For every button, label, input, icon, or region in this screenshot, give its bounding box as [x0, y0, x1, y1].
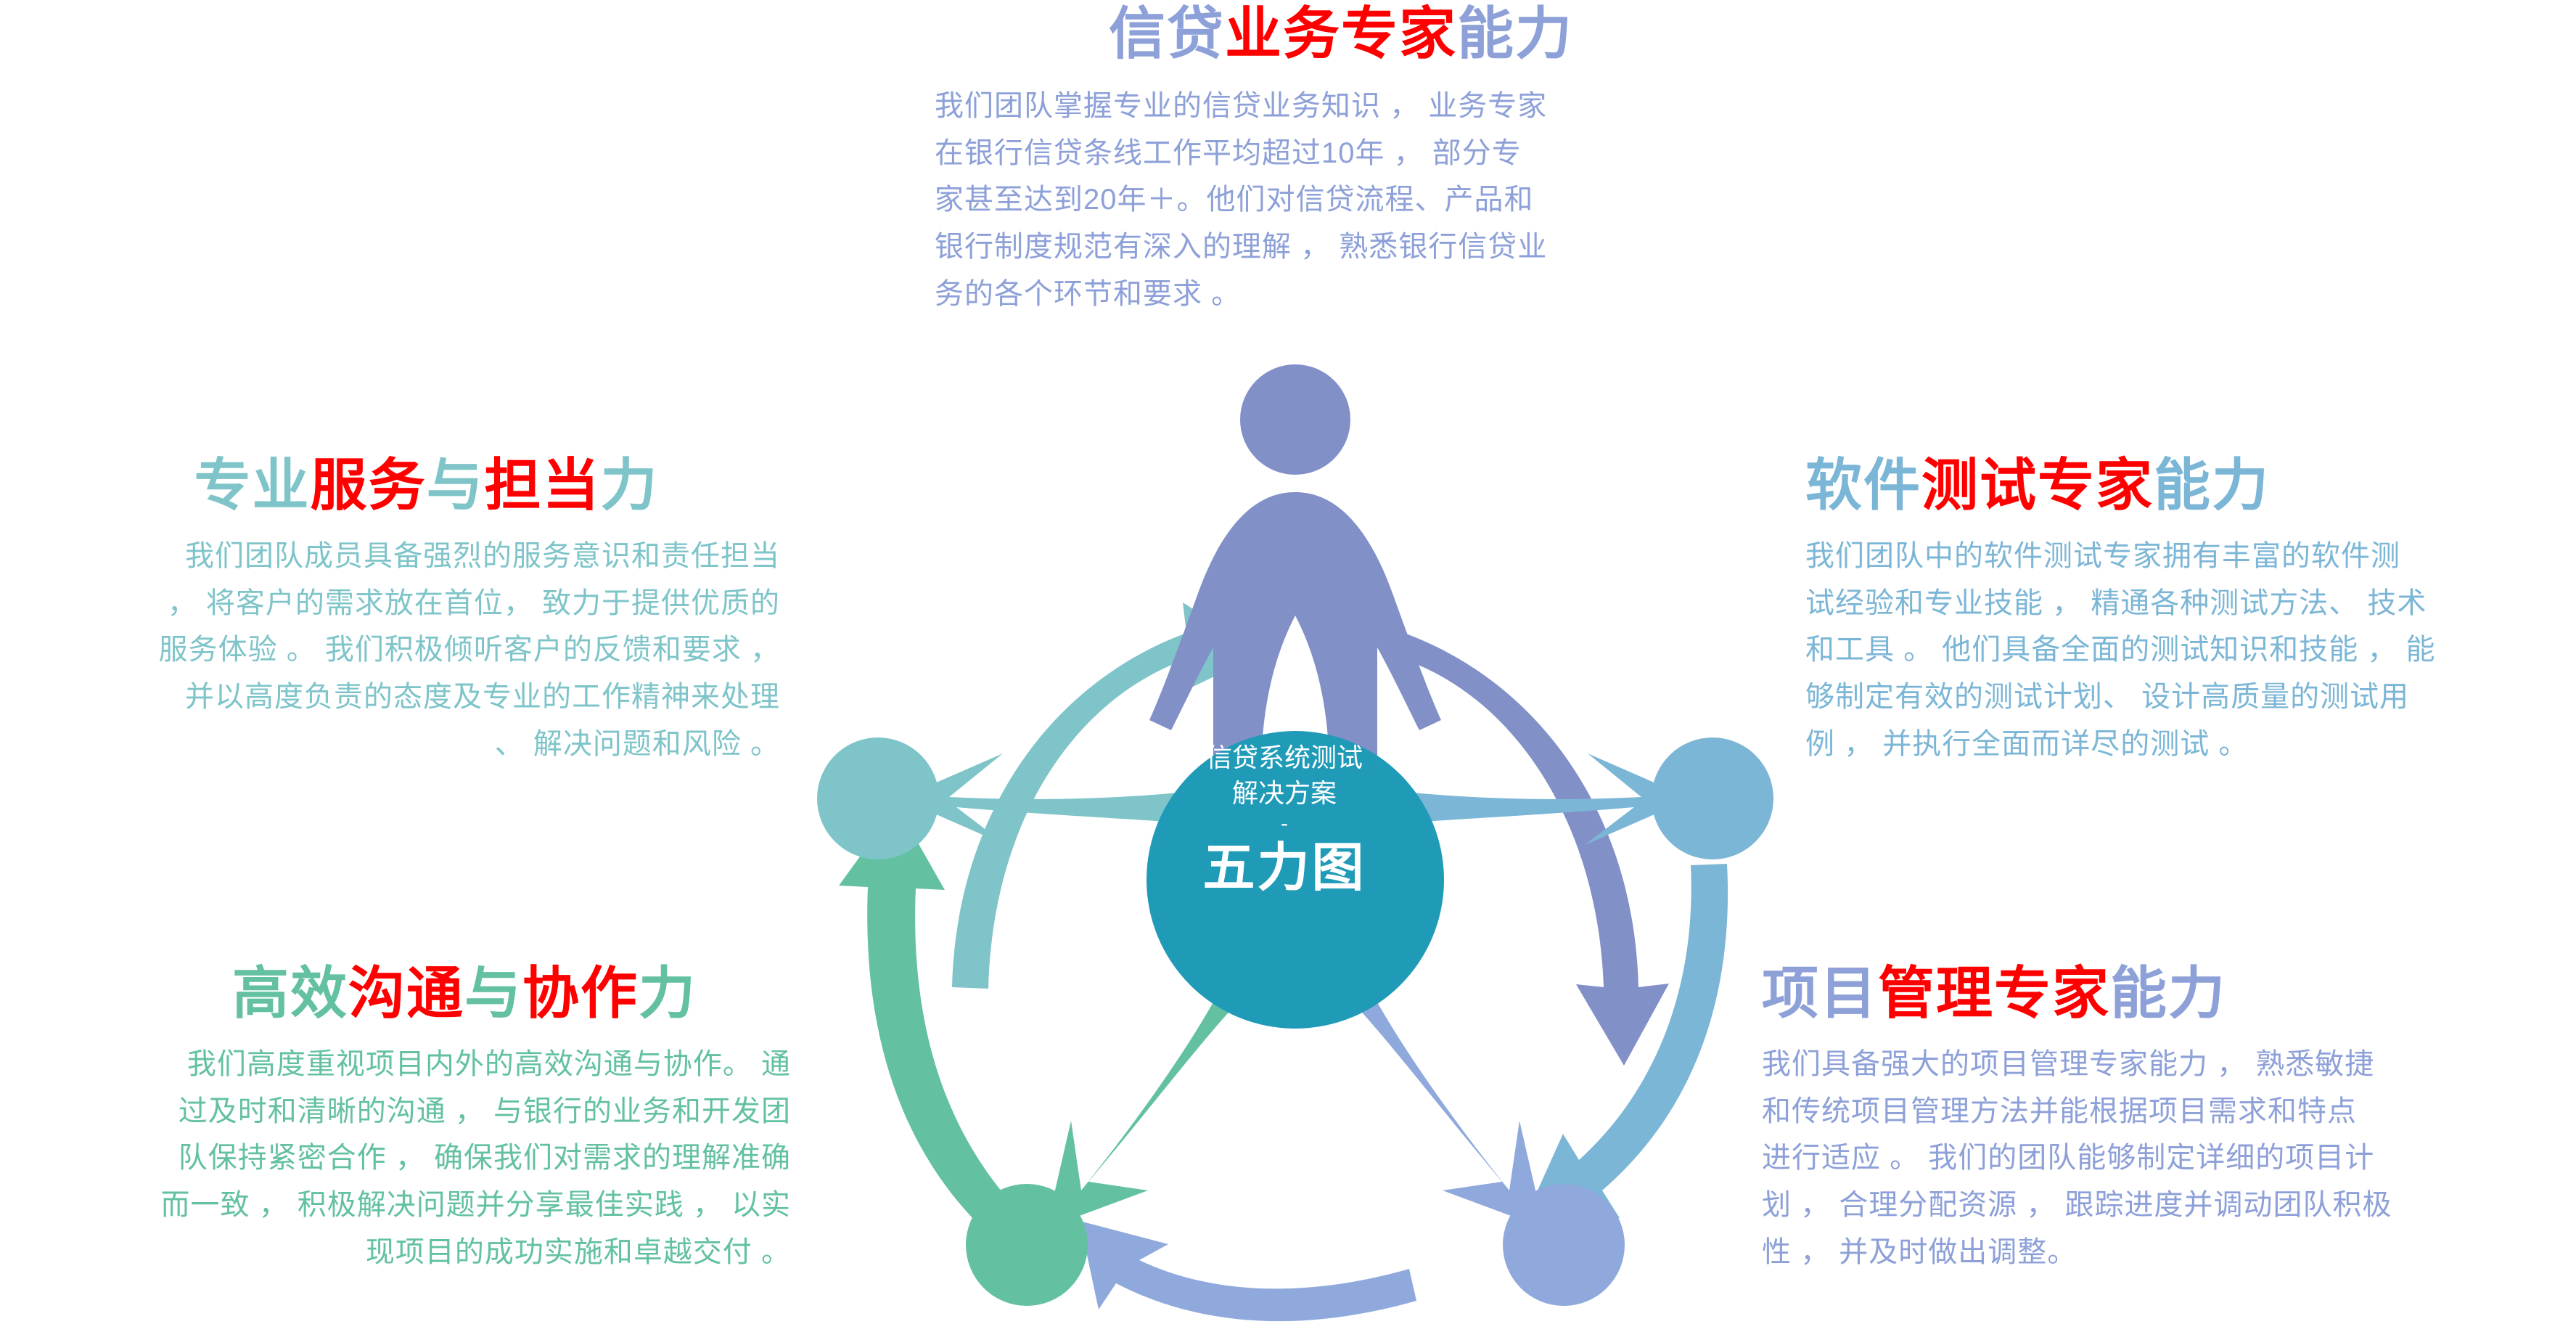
professional-service-body: 我们团队成员具备强烈的服务意识和责任担当 ， 将客户的需求放在首位， 致力于提供…	[0, 533, 787, 768]
body-line: 我们具备强大的项目管理专家能力 ， 熟悉敏捷	[1762, 1041, 2576, 1088]
body-line: 我们团队成员具备强烈的服务意识和责任担当	[0, 533, 780, 580]
heading-part: 与	[426, 453, 484, 517]
body-line: 划 ， 合理分配资源 ， 跟踪进度并调动团队积极	[1762, 1182, 2576, 1229]
center-circle	[1147, 731, 1444, 1029]
body-line: 并以高度负责的态度及专业的工作精神来处理	[0, 674, 780, 721]
person-node-top	[1149, 364, 1441, 775]
body-line: 在银行信贷条线工作平均超过10年 ， 部分专	[935, 130, 1747, 177]
heading-part: 沟通	[348, 961, 464, 1025]
body-line: 和传统项目管理方法并能根据项目需求和特点	[1762, 1088, 2576, 1135]
heading-part: 与	[464, 961, 522, 1025]
body-line: 试经验和专业技能 ， 精通各种测试方法、 技术	[1805, 580, 2576, 627]
heading-part: 协作	[522, 961, 639, 1025]
body-line: 我们团队掌握专业的信贷业务知识 ， 业务专家	[935, 83, 1747, 130]
body-line: 现项目的成功实施和卓越交付 。	[0, 1229, 791, 1276]
section-communication: 高效沟通与协作力 我们高度重视项目内外的高效沟通与协作。 通 过及时和清晰的沟通…	[0, 964, 798, 1276]
heading-part: 测试专家	[1921, 453, 2154, 517]
body-line: 我们高度重视项目内外的高效沟通与协作。 通	[0, 1041, 791, 1088]
section-credit-business: 信贷业务专家能力 我们团队掌握专业的信贷业务知识 ， 业务专家 在银行信贷条线工…	[935, 4, 1747, 318]
body-line: 过及时和清晰的沟通 ， 与银行的业务和开发团	[0, 1088, 791, 1135]
body-line: 而一致 ， 积极解决问题并分享最佳实践 ， 以实	[0, 1182, 791, 1229]
body-line: 例 ， 并执行全面而详尽的测试 。	[1805, 721, 2576, 768]
heading-part: 高效	[232, 961, 348, 1025]
heading-part: 业务专家	[1225, 1, 1457, 65]
body-line: 够制定有效的测试计划、 设计高质量的测试用	[1805, 674, 2576, 721]
software-testing-heading: 软件测试专家能力	[1792, 456, 2576, 515]
heading-part: 服务	[310, 453, 426, 517]
heading-part: 管理专家	[1878, 961, 2110, 1025]
project-management-heading: 项目管理专家能力	[1749, 964, 2576, 1023]
node-bottom-left	[966, 1184, 1088, 1306]
node-left	[817, 737, 939, 859]
heading-part: 信贷	[1109, 1, 1225, 65]
section-professional-service: 专业服务与担当力 我们团队成员具备强烈的服务意识和责任担当 ， 将客户的需求放在…	[0, 456, 787, 768]
heading-part: 力	[601, 453, 659, 517]
software-testing-body: 我们团队中的软件测试专家拥有丰富的软件测 试经验和专业技能 ， 精通各种测试方法…	[1792, 533, 2576, 768]
heading-part: 专业	[194, 453, 310, 517]
body-line: 家甚至达到20年＋。他们对信贷流程、产品和	[935, 176, 1747, 224]
cycle-arrow-periwinkle-bottom	[1080, 1221, 1416, 1321]
section-software-testing: 软件测试专家能力 我们团队中的软件测试专家拥有丰富的软件测 试经验和专业技能 ，…	[1792, 456, 2576, 768]
credit-business-heading: 信贷业务专家能力	[935, 4, 1747, 64]
node-right	[1652, 737, 1773, 859]
heading-part: 担当	[485, 453, 601, 517]
project-management-body: 我们具备强大的项目管理专家能力 ， 熟悉敏捷 和传统项目管理方法并能根据项目需求…	[1749, 1041, 2576, 1276]
section-project-management: 项目管理专家能力 我们具备强大的项目管理专家能力 ， 熟悉敏捷 和传统项目管理方…	[1749, 964, 2576, 1276]
professional-service-heading: 专业服务与担当力	[0, 456, 787, 515]
body-line: 、 解决问题和风险 。	[0, 721, 780, 768]
heading-part: 能力	[2154, 453, 2270, 517]
body-line: 队保持紧密合作 ， 确保我们对需求的理解准确	[0, 1135, 791, 1182]
body-line: 服务体验 。 我们积极倾听客户的反馈和要求 ，	[0, 626, 780, 674]
heading-part: 力	[639, 961, 697, 1025]
body-line: 银行制度规范有深入的理解 ， 熟悉银行信贷业	[935, 224, 1747, 271]
body-line: 我们团队中的软件测试专家拥有丰富的软件测	[1805, 533, 2576, 580]
communication-heading: 高效沟通与协作力	[0, 964, 798, 1023]
body-line: 和工具 。 他们具备全面的测试知识和技能 ， 能	[1805, 626, 2576, 674]
cycle-arrow-periwinkle-top	[1404, 633, 1669, 1066]
heading-part: 能力	[1457, 1, 1573, 65]
body-line: ， 将客户的需求放在首位， 致力于提供优质的	[0, 580, 780, 627]
body-line: 性 ， 并及时做出调整。	[1762, 1229, 2576, 1276]
heading-part: 能力	[2110, 961, 2226, 1025]
credit-business-body: 我们团队掌握专业的信贷业务知识 ， 业务专家 在银行信贷条线工作平均超过10年 …	[935, 83, 1747, 318]
communication-body: 我们高度重视项目内外的高效沟通与协作。 通 过及时和清晰的沟通 ， 与银行的业务…	[0, 1041, 798, 1276]
node-bottom-right	[1503, 1184, 1625, 1306]
five-forces-diagram	[791, 363, 1800, 1324]
body-line: 进行适应 。 我们的团队能够制定详细的项目计	[1762, 1135, 2576, 1182]
heading-part: 软件	[1805, 453, 1921, 517]
body-line: 务的各个环节和要求 。	[935, 271, 1747, 318]
